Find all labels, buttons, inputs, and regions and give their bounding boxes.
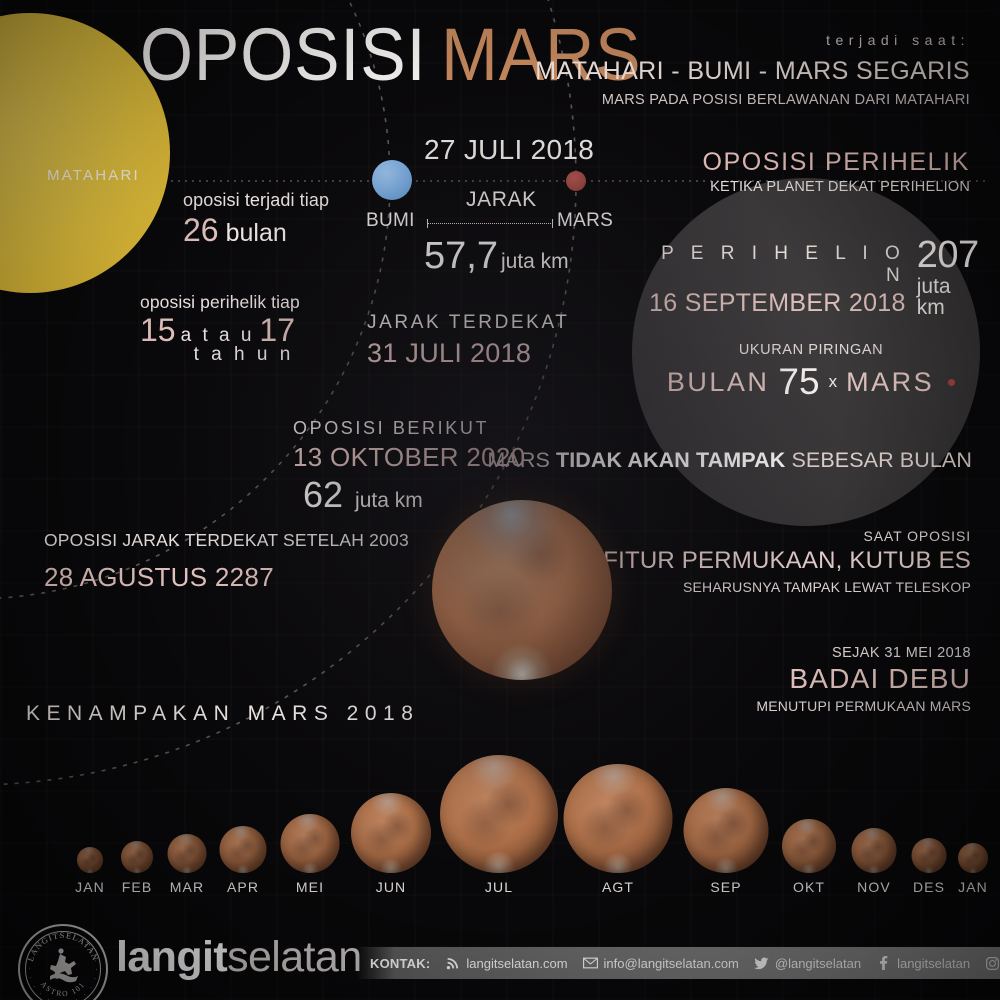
oposisi-tiap-value: 26 xyxy=(183,212,219,248)
mars-disc-surface xyxy=(121,841,153,873)
segaris-sub: MARS PADA POSISI BERLAWANAN DARI MATAHAR… xyxy=(535,92,970,108)
mars-disc-nov-10 xyxy=(852,828,897,873)
contact-item-instagram[interactable]: langitselatanmedia xyxy=(985,956,1000,971)
mars-disc-agt-7 xyxy=(564,764,673,873)
brand-bold: langit xyxy=(116,933,227,981)
ukuran-times-symbol: x xyxy=(829,372,838,392)
contact-text: langitselatan xyxy=(897,956,970,971)
distance-value: 57,7 xyxy=(424,237,498,275)
contact-text: @langitselatan xyxy=(775,956,861,971)
mars-disc-feb-1 xyxy=(121,841,153,873)
kenampakan-title: KENAMPAKAN MARS 2018 xyxy=(26,702,419,726)
ukuran-factor-value: 75 xyxy=(778,361,819,403)
month-label-agt-7: AGT xyxy=(602,879,634,895)
perihelik-tiap-block: oposisi perihelik tiap 15 a t a u 17 t a… xyxy=(140,292,300,366)
badai-debu-headline: BADAI DEBU xyxy=(756,663,971,695)
mars-disc-mei-4 xyxy=(281,814,340,873)
mars-disc-surface xyxy=(351,793,431,873)
oposisi-berikut-label: OPOSISI BERIKUT xyxy=(293,418,525,439)
contact-item-rss[interactable]: langitselatan.com xyxy=(445,956,567,971)
saat-oposisi-kicker: SAAT OPOSISI xyxy=(603,528,971,544)
badai-debu-sub: MENUTUPI PERMUKAAN MARS xyxy=(756,698,971,714)
mars-label: MARS xyxy=(557,210,613,232)
mars-disc-des-11 xyxy=(912,838,947,873)
contact-item-twitter[interactable]: @langitselatan xyxy=(754,956,861,971)
month-label-mar-2: MAR xyxy=(170,879,204,895)
month-label-jan-0: JAN xyxy=(75,879,105,895)
earth-label: BUMI xyxy=(366,210,415,232)
oposisi-tiap-block: oposisi terjadi tiap 26bulan xyxy=(183,190,329,249)
mars-disc-surface xyxy=(684,788,769,873)
mars-disc-surface xyxy=(958,843,988,873)
contact-item-facebook[interactable]: langitselatan xyxy=(876,956,970,971)
sun-label: MATAHARI xyxy=(47,167,140,184)
terjadi-saat-block: terjadi saat: MATAHARI - BUMI - MARS SEG… xyxy=(535,32,970,108)
infographic-poster: MATAHARI OPOSISIMARS terjadi saat: MATAH… xyxy=(0,0,1000,1000)
opposition-date: 27 JULI 2018 xyxy=(424,134,594,166)
contact-bar: KONTAK: langitselatan.cominfo@langitsela… xyxy=(356,947,1000,979)
saat-oposisi-sub: SEHARUSNYA TAMPAK LEWAT TELESKOP xyxy=(603,579,971,595)
contact-text: langitselatan.com xyxy=(466,956,567,971)
distance-measure-line xyxy=(427,219,553,228)
mars-disc-jul-6 xyxy=(440,755,558,873)
oposisi-tiap-caption: oposisi terjadi tiap xyxy=(183,190,329,211)
oposisi-perihelik-sub: KETIKA PLANET DEKAT PERIHELION xyxy=(702,179,970,195)
perihelik-tiap-value-1: 15 xyxy=(140,312,176,349)
mars-photo xyxy=(432,500,612,680)
distance-unit: juta km xyxy=(501,251,569,275)
brand-wordmark: langitselatan xyxy=(116,936,362,979)
footer: LANGITSELATAN ASTRO 101 langitselatan KO… xyxy=(0,912,1000,1000)
langitselatan-logo: LANGITSELATAN ASTRO 101 xyxy=(18,924,108,1000)
oposisi-perihelik-block: OPOSISI PERIHELIK KETIKA PLANET DEKAT PE… xyxy=(702,148,970,195)
ukuran-mars-label: MARS xyxy=(846,367,934,398)
svg-text:ASTRO 101: ASTRO 101 xyxy=(39,980,87,999)
terdekat-setelah-label: OPOSISI JARAK TERDEKAT SETELAH 2003 xyxy=(44,530,409,551)
title-word-oposisi: OPOSISI xyxy=(140,13,426,96)
oposisi-tiap-unit: bulan xyxy=(226,219,287,247)
segaris-headline: MATAHARI - BUMI - MARS SEGARIS xyxy=(535,57,970,86)
mars-disc-surface xyxy=(912,838,947,873)
mars-disc-surface xyxy=(77,847,103,873)
mars-disc-surface xyxy=(281,814,340,873)
mars-disc-surface xyxy=(782,819,836,873)
mars-disc-surface xyxy=(440,755,558,873)
month-label-apr-3: APR xyxy=(227,879,259,895)
contact-item-envelope[interactable]: info@langitselatan.com xyxy=(583,956,739,971)
distance-value-block: 57,7 juta km xyxy=(424,237,569,275)
mars-circle xyxy=(566,171,586,191)
logo-artwork: LANGITSELATAN ASTRO 101 xyxy=(20,926,106,1000)
terjadi-saat-kicker: terjadi saat: xyxy=(535,32,970,48)
jarak-terdekat-label: JARAK TERDEKAT xyxy=(367,312,570,334)
mars-disc-okt-9 xyxy=(782,819,836,873)
jarak-label: JARAK xyxy=(466,188,537,212)
rss-icon xyxy=(445,956,460,971)
saat-oposisi-block: SAAT OPOSISI FITUR PERMUKAAN, KUTUB ES S… xyxy=(603,528,971,595)
mars-disc-surface xyxy=(220,826,267,873)
oposisi-perihelik-title: OPOSISI PERIHELIK xyxy=(702,148,970,177)
month-label-jun-5: JUN xyxy=(376,879,407,895)
mars-disc-jun-5 xyxy=(351,793,431,873)
tidak-tampak-statement: MARS TIDAK AKAN TAMPAK SEBESAR BULAN xyxy=(487,448,972,473)
perihelion-distance-value: 207 xyxy=(917,236,982,274)
month-label-nov-10: NOV xyxy=(857,879,891,895)
ukuran-piringan-block: UKURAN PIRINGAN BULAN 75 x MARS xyxy=(640,342,982,403)
terdekat-setelah-date: 28 AGUSTUS 2287 xyxy=(44,562,409,593)
oposisi-berikut-unit: juta km xyxy=(355,489,423,513)
contact-text: info@langitselatan.com xyxy=(604,956,739,971)
mars-disc-sep-8 xyxy=(684,788,769,873)
mars-disc-surface xyxy=(852,828,897,873)
perihelion-label: P E R I H E L I O N xyxy=(640,243,906,287)
mars-disc-row xyxy=(40,755,964,873)
saat-oposisi-headline: FITUR PERMUKAAN, KUTUB ES xyxy=(603,547,971,575)
mars-red-dot-icon xyxy=(948,379,955,386)
jarak-terdekat-date: 31 JULI 2018 xyxy=(367,338,570,369)
earth-circle xyxy=(372,160,412,200)
month-label-sep-8: SEP xyxy=(710,879,741,895)
perihelion-date: 16 SEPTEMBER 2018 xyxy=(640,289,906,318)
month-label-jan-12: JAN xyxy=(958,879,988,895)
kontak-label: KONTAK: xyxy=(370,956,430,971)
ukuran-piringan-caption: UKURAN PIRINGAN xyxy=(640,342,982,358)
distance-dotted-bar xyxy=(427,223,553,224)
terdekat-setelah-block: OPOSISI JARAK TERDEKAT SETELAH 2003 28 A… xyxy=(44,530,409,593)
brand-light: selatan xyxy=(227,933,361,981)
mars-disc-jan-12 xyxy=(958,843,988,873)
badai-debu-block: SEJAK 31 MEI 2018 BADAI DEBU MENUTUPI PE… xyxy=(756,645,971,714)
badai-debu-kicker: SEJAK 31 MEI 2018 xyxy=(756,645,971,661)
month-label-mei-4: MEI xyxy=(296,879,324,895)
mars-disc-surface xyxy=(564,764,673,873)
month-label-jul-6: JUL xyxy=(485,879,513,895)
tidak-tampak-strong: TIDAK AKAN TAMPAK xyxy=(556,448,785,472)
oposisi-berikut-block: OPOSISI BERIKUT 13 OKTOBER 2020 62 juta … xyxy=(293,418,525,516)
oposisi-berikut-value: 62 xyxy=(303,474,343,516)
instagram-icon xyxy=(985,956,1000,971)
month-label-okt-9: OKT xyxy=(793,879,825,895)
oposisi-berikut-date: 13 OKTOBER 2020 xyxy=(293,442,525,473)
mars-disc-mar-2 xyxy=(168,834,207,873)
perihelik-tiap-caption: oposisi perihelik tiap xyxy=(140,292,300,313)
distance-cap-right xyxy=(552,219,553,228)
mars-size-chart: JANFEBMARAPRMEIJUNJULAGTSEPOKTNOVDESJAN xyxy=(40,755,964,905)
ukuran-moon-label: BULAN xyxy=(667,367,770,398)
perihelion-distance-unit: juta km xyxy=(917,276,982,318)
month-label-feb-1: FEB xyxy=(122,879,153,895)
twitter-icon xyxy=(754,956,769,971)
envelope-icon xyxy=(583,956,598,971)
jarak-terdekat-block: JARAK TERDEKAT 31 JULI 2018 xyxy=(367,312,570,369)
mars-disc-apr-3 xyxy=(220,826,267,873)
mars-disc-surface xyxy=(168,834,207,873)
facebook-icon xyxy=(876,956,891,971)
tidak-tampak-post: SEBESAR BULAN xyxy=(785,448,972,472)
mars-disc-jan-0 xyxy=(77,847,103,873)
month-label-des-11: DES xyxy=(913,879,945,895)
perihelion-block: P E R I H E L I O N 16 SEPTEMBER 2018 20… xyxy=(640,236,982,318)
